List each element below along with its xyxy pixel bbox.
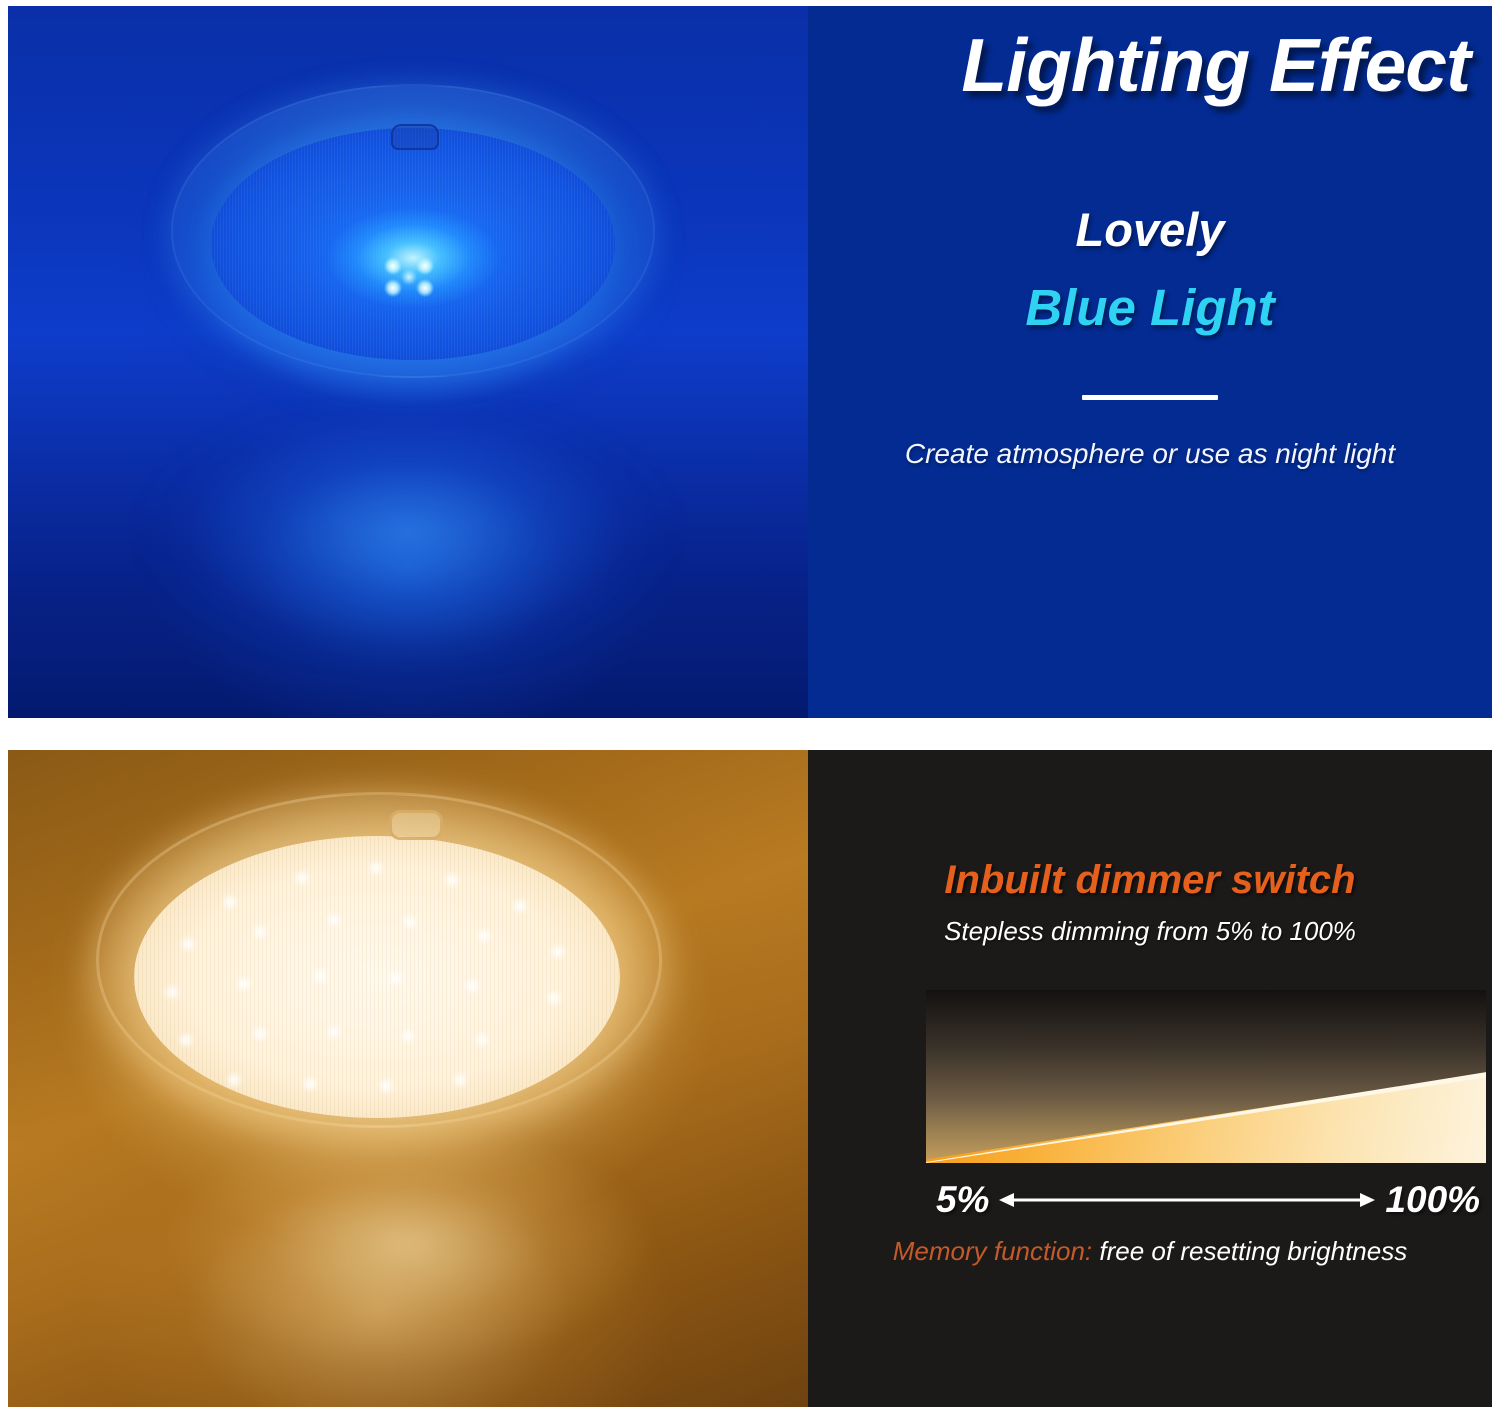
fixture-power-button-icon [391, 124, 439, 150]
scale-max-label: 100% [1385, 1179, 1480, 1221]
dimmer-subheading: Stepless dimming from 5% to 100% [808, 916, 1492, 947]
warm-fixture-lens [134, 836, 620, 1118]
warm-floor-glow [108, 1110, 708, 1407]
memory-function-label: Memory function: [893, 1236, 1092, 1266]
page-title: Lighting Effect [808, 22, 1492, 108]
blue-led-cluster [375, 254, 445, 302]
fixture-dimmer-button-icon [389, 810, 443, 840]
subheading-line-2: Blue Light [808, 278, 1492, 337]
memory-function-line: Memory function: free of resetting brigh… [808, 1236, 1492, 1267]
brightness-gradient-chart [926, 990, 1486, 1163]
top-text-pane: Lighting Effect Lovely Blue Light Create… [808, 6, 1492, 718]
blue-light-photo [8, 6, 808, 718]
memory-function-value: free of resetting brightness [1099, 1236, 1407, 1266]
dimmer-heading: Inbuilt dimmer switch [808, 858, 1492, 903]
blue-fixture-lens [211, 128, 615, 360]
top-panel: Lighting Effect Lovely Blue Light Create… [8, 6, 1492, 718]
bottom-text-pane: Inbuilt dimmer switch Stepless dimming f… [808, 750, 1492, 1407]
gradient-background [926, 990, 1486, 1163]
scale-min-label: 5% [936, 1179, 989, 1221]
blue-floor-glow [128, 406, 688, 718]
gradient-wedge [926, 990, 1486, 1163]
infographic-page: Lighting Effect Lovely Blue Light Create… [0, 0, 1500, 1413]
double-arrow-icon [997, 1188, 1377, 1212]
bottom-panel: Inbuilt dimmer switch Stepless dimming f… [8, 750, 1492, 1407]
subheading-line-1: Lovely [808, 202, 1492, 257]
warm-led-array [134, 836, 620, 1118]
top-description: Create atmosphere or use as night light [808, 434, 1492, 475]
warm-light-photo [8, 750, 808, 1407]
divider-rule [1082, 395, 1218, 400]
dimming-scale: 5% 100% [908, 1174, 1492, 1226]
